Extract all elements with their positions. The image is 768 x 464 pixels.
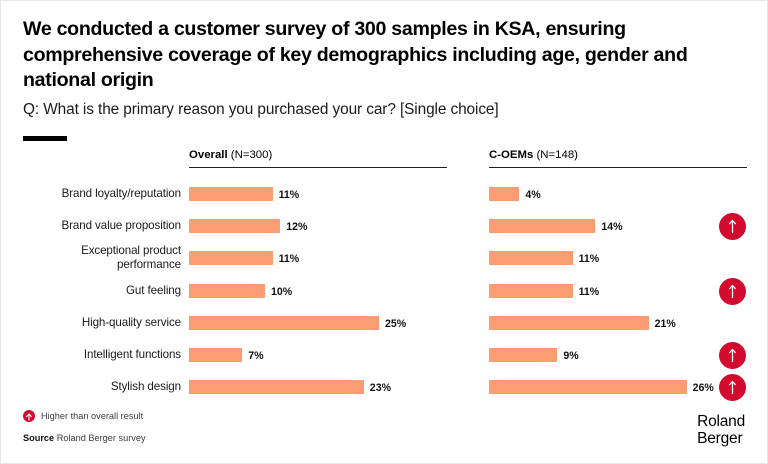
- category-label: Brand loyalty/reputation: [19, 187, 181, 201]
- source-text: Roland Berger survey: [57, 433, 146, 443]
- bar: [489, 187, 519, 201]
- logo-line-1: Roland: [697, 413, 745, 430]
- category-label: Stylish design: [19, 380, 181, 394]
- chart-area: Overall (N=300)C-OEMs (N=148)Brand loyal…: [1, 1, 768, 464]
- category-label: Gut feeling: [19, 284, 181, 298]
- bar: [189, 251, 273, 265]
- footer-rule: [1, 459, 767, 463]
- logo-line-2: Berger: [697, 430, 745, 447]
- panel-sample-size: (N=300): [228, 149, 273, 161]
- higher-than-overall-badge: [719, 342, 746, 369]
- panel-title-c-oems: C-OEMs (N=148): [489, 149, 578, 161]
- source-note: Source Roland Berger survey: [23, 433, 146, 443]
- bar-value-label: 21%: [655, 318, 676, 330]
- bar-value-label: 11%: [279, 189, 300, 201]
- bar: [489, 219, 595, 233]
- bar-value-label: 12%: [286, 221, 307, 233]
- panel-label: Overall: [189, 149, 228, 161]
- bar: [189, 284, 265, 298]
- panel-rule: [189, 167, 447, 168]
- bar: [189, 316, 379, 330]
- bar-value-label: 4%: [525, 189, 540, 201]
- panel-sample-size: (N=148): [533, 149, 578, 161]
- category-label: High-quality service: [19, 316, 181, 330]
- category-label: Brand value proposition: [19, 219, 181, 233]
- bar-value-label: 23%: [370, 382, 391, 394]
- higher-than-overall-badge: [719, 278, 746, 305]
- panel-title-overall: Overall (N=300): [189, 149, 272, 161]
- bar-value-label: 25%: [385, 318, 406, 330]
- bar: [489, 251, 573, 265]
- higher-than-overall-badge: [719, 213, 746, 240]
- bar-value-label: 7%: [248, 350, 263, 362]
- bar: [189, 219, 280, 233]
- bar: [189, 380, 364, 394]
- bar-value-label: 11%: [579, 253, 600, 265]
- bar: [489, 284, 573, 298]
- bar: [489, 380, 687, 394]
- bar-value-label: 26%: [693, 382, 714, 394]
- bar-value-label: 11%: [279, 253, 300, 265]
- brand-logo: Roland Berger: [697, 413, 745, 447]
- bar: [189, 187, 273, 201]
- panel-rule: [489, 167, 747, 168]
- bar: [189, 348, 242, 362]
- panel-label: C-OEMs: [489, 149, 533, 161]
- source-label: Source: [23, 433, 54, 443]
- arrow-up-circle-icon: [23, 410, 35, 422]
- bar-value-label: 10%: [271, 286, 292, 298]
- bar: [489, 348, 557, 362]
- higher-than-overall-badge: [719, 374, 746, 401]
- bar-value-label: 14%: [601, 221, 622, 233]
- legend-label: Higher than overall result: [41, 411, 143, 421]
- bar-value-label: 11%: [579, 286, 600, 298]
- slide-canvas: We conducted a customer survey of 300 sa…: [0, 0, 768, 464]
- category-label: Intelligent functions: [19, 348, 181, 362]
- bar-value-label: 9%: [563, 350, 578, 362]
- bar: [489, 316, 649, 330]
- category-label: Exceptional product performance: [19, 244, 181, 271]
- legend: Higher than overall result: [23, 410, 143, 422]
